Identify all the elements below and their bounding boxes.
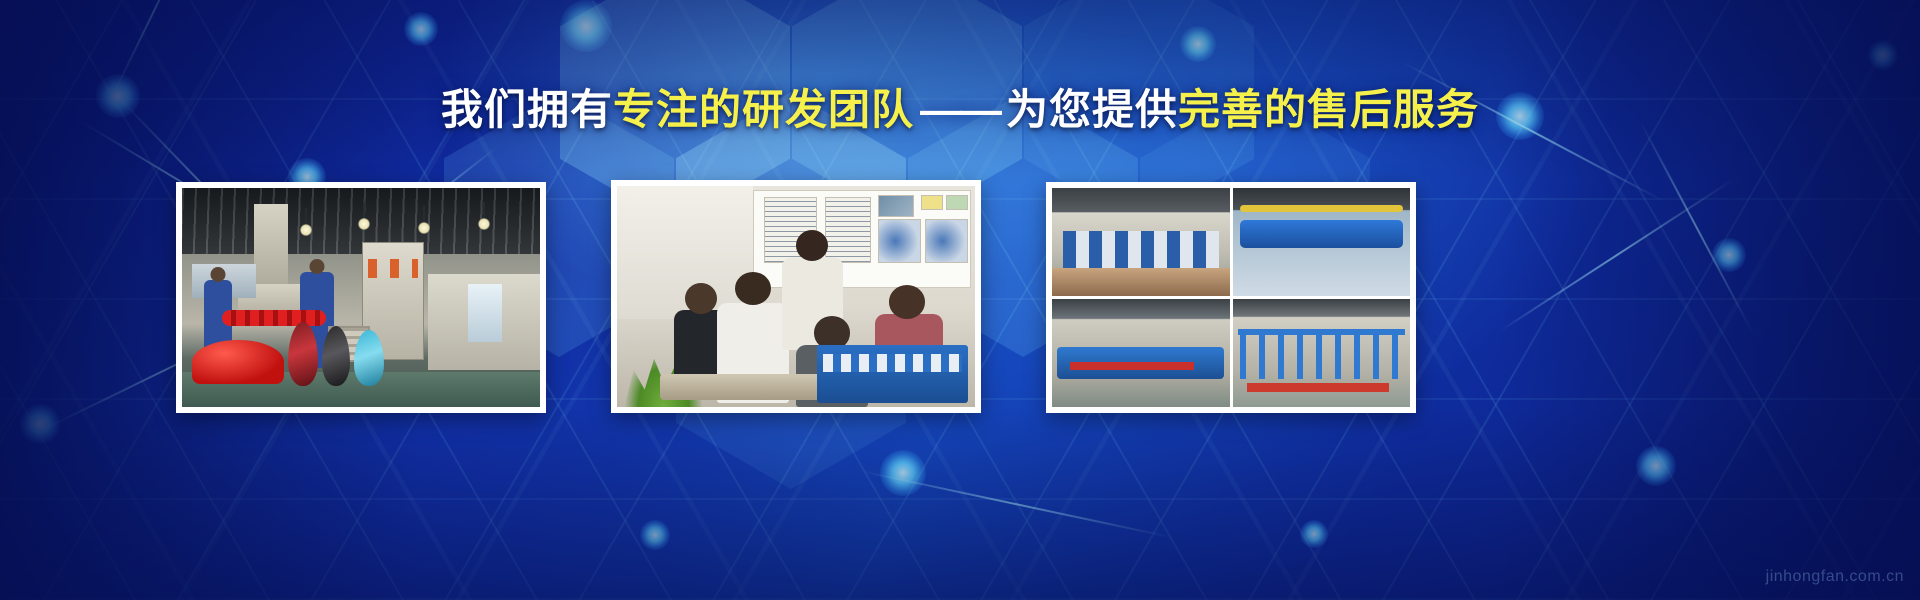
headline-segment-3: 为您提供 xyxy=(1006,86,1178,133)
headline-dash: —— xyxy=(914,86,1006,133)
headline-segment-2: 专注的研发团队 xyxy=(613,86,914,133)
photo-right xyxy=(1052,188,1410,407)
photo-middle xyxy=(617,186,975,407)
photo-frame-right[interactable] xyxy=(1046,182,1416,413)
site-watermark: jinhongfan.com.cn xyxy=(1766,568,1904,586)
photo-frame-left[interactable] xyxy=(176,182,546,413)
headline-segment-1: 我们拥有 xyxy=(441,86,613,133)
photo-left xyxy=(182,188,540,407)
page-title: 我们拥有专注的研发团队——为您提供完善的售后服务 xyxy=(0,84,1920,136)
headline-segment-4: 完善的售后服务 xyxy=(1178,86,1479,133)
photo-frame-middle[interactable] xyxy=(611,180,981,413)
promotional-banner: 我们拥有专注的研发团队——为您提供完善的售后服务 xyxy=(0,0,1920,600)
